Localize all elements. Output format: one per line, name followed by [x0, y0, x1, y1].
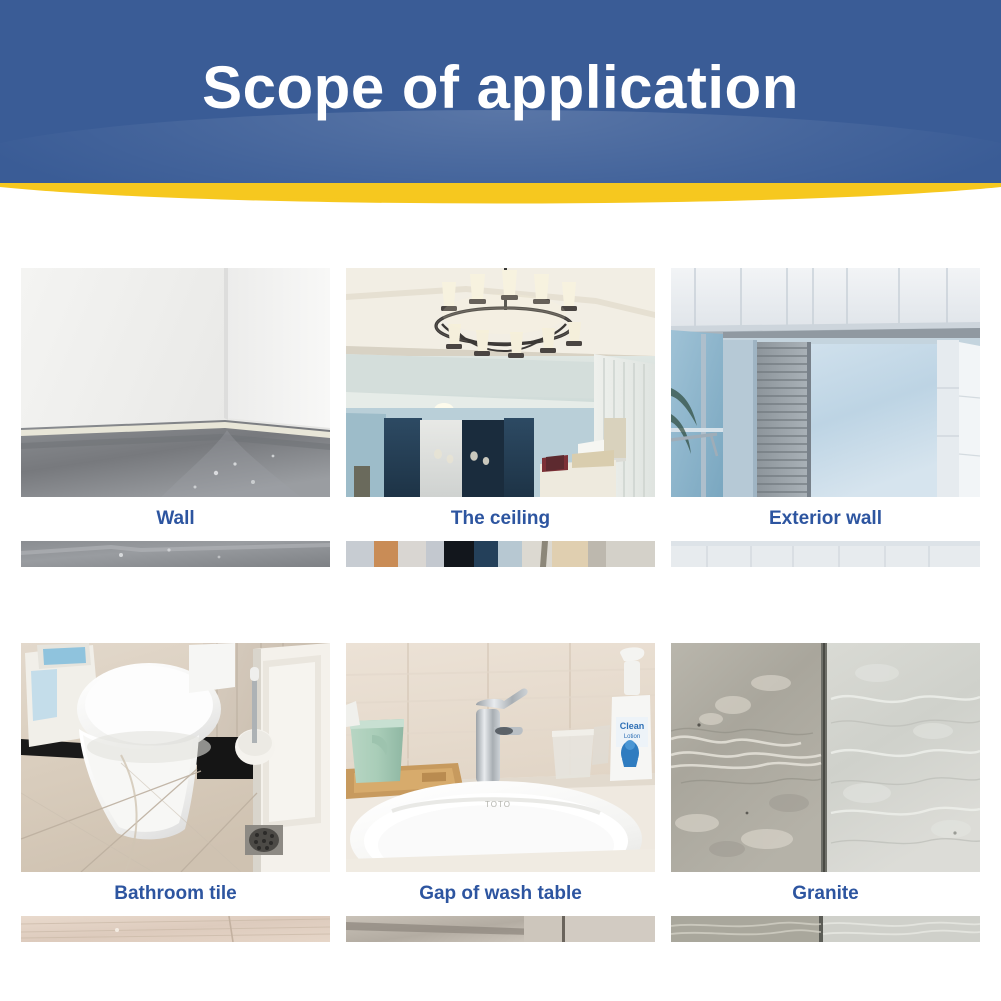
card-bathroom-tile[interactable]: Bathroom tile [21, 643, 330, 942]
granite-photo [671, 643, 980, 872]
page-title: Scope of application [0, 52, 1001, 124]
scope-of-application-page: { "banner": { "title": "Scope of applica… [0, 0, 1001, 1001]
card-wall[interactable]: Wall [21, 268, 330, 567]
card-exterior-wall[interactable]: Exterior wall [671, 268, 980, 567]
card-label: The ceiling [346, 497, 655, 541]
wash-table-strip-photo [346, 916, 655, 942]
wall-corner-photo [21, 268, 330, 497]
exterior-wall-strip-photo [671, 541, 980, 567]
granite-strip-photo [671, 916, 980, 942]
bathroom-tile-strip-photo [21, 916, 330, 942]
card-label: Wall [21, 497, 330, 541]
card-the-ceiling[interactable]: The ceiling [346, 268, 655, 567]
application-grid: Wall [21, 268, 982, 942]
banner-yellow-curve [0, 183, 1001, 217]
card-label: Gap of wash table [346, 872, 655, 916]
exterior-wall-photo [671, 268, 980, 497]
card-label: Bathroom tile [21, 872, 330, 916]
svg-text:Clean: Clean [620, 721, 645, 731]
ceiling-strip-photo [346, 541, 655, 567]
bathroom-tile-photo [21, 643, 330, 872]
card-label: Granite [671, 872, 980, 916]
page-banner: Scope of application [0, 0, 1001, 184]
card-granite[interactable]: Granite [671, 643, 980, 942]
wash-table-gap-photo: Clean Lotion TOTO [346, 643, 655, 872]
wall-strip-photo [21, 541, 330, 567]
svg-text:Lotion: Lotion [624, 734, 640, 740]
ceiling-photo [346, 268, 655, 497]
card-gap-of-wash-table[interactable]: Clean Lotion TOTO [346, 643, 655, 942]
grid-row: Bathroom tile [21, 643, 982, 942]
svg-text:TOTO: TOTO [485, 800, 511, 809]
grid-row: Wall [21, 268, 982, 567]
card-label: Exterior wall [671, 497, 980, 541]
